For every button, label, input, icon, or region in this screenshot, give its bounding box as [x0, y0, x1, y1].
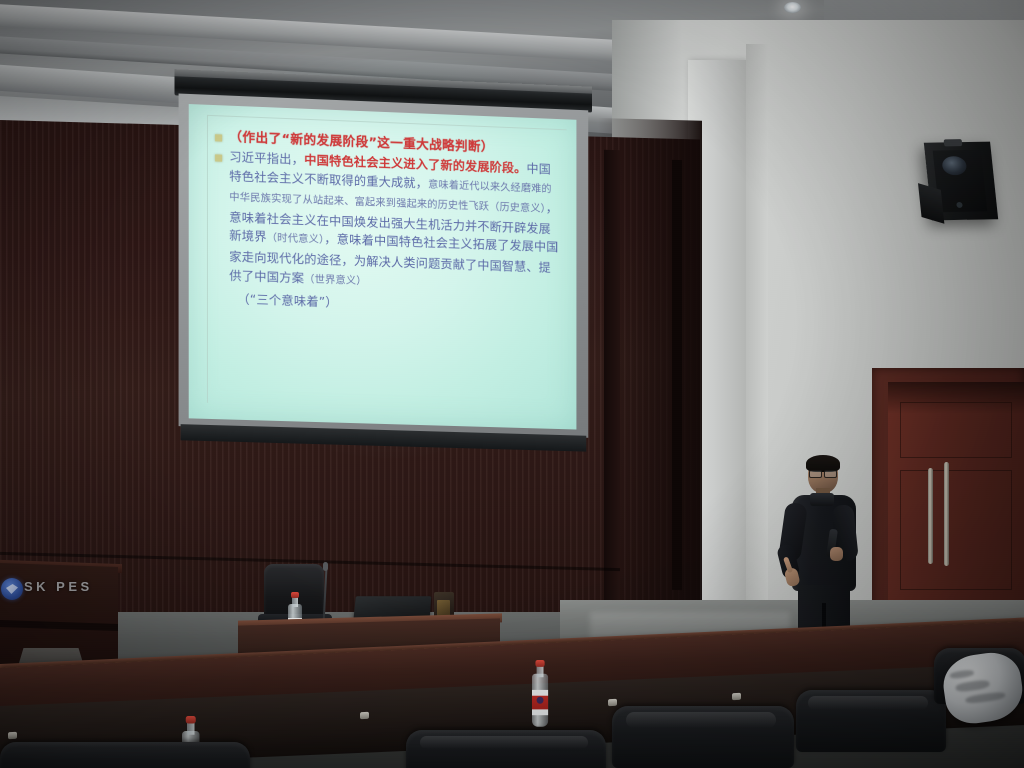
bottle-cap [291, 592, 299, 598]
institution-logo-icon [1, 578, 23, 600]
cloth-fold [950, 669, 975, 679]
chair-highlight [420, 736, 588, 749]
glasses-icon [809, 470, 837, 476]
presenter-collar [810, 493, 834, 506]
bottle-cap [186, 716, 196, 724]
body-paren-2: （时代意义） [267, 233, 325, 246]
loudspeaker-icon [924, 142, 998, 221]
body-paren-1: （历史意义） [489, 202, 546, 215]
bullet-square-icon [215, 134, 222, 141]
body-paren-3: （世界意义） [304, 274, 367, 287]
recessed-downlight-icon [784, 2, 801, 13]
bottle-neck [187, 722, 195, 735]
screen-surface: （作出了“新的发展阶段”这一重大战略判断） 习近平指出，中国特色社会主义进入了新… [189, 104, 577, 430]
desk-fixture-icon [8, 732, 17, 739]
desk-fixture-icon [608, 699, 617, 706]
desk-fixture-icon [732, 693, 741, 700]
bottle-label [532, 690, 548, 715]
slide-bullet-body: 习近平指出，中国特色社会主义进入了新的发展阶段。中国特色社会主义不断取得的重大成… [215, 147, 559, 298]
bottle-cap [535, 660, 544, 667]
slide-content: （作出了“新的发展阶段”这一重大战略判断） 习近平指出，中国特色社会主义进入了新… [215, 127, 559, 319]
bottle-neck [537, 666, 544, 678]
body-prefix: 习近平指出， [229, 150, 304, 167]
speaker-tweeter-icon [956, 202, 963, 208]
presenter-left-hand [830, 547, 843, 561]
door-handle-icon[interactable] [944, 462, 949, 566]
slide-body: 习近平指出，中国特色社会主义进入了新的发展阶段。中国特色社会主义不断取得的重大成… [229, 148, 558, 298]
podium-logo-text: SK PES [24, 579, 93, 594]
bottle-neck [292, 597, 298, 607]
lecture-hall-photo: （作出了“新的发展阶段”这一重大战略判断） 习近平指出，中国特色社会主义进入了新… [0, 0, 1024, 768]
bullet-square-icon [215, 154, 222, 161]
desk-fixture-icon [360, 712, 369, 719]
cloth-fold [965, 691, 1006, 704]
wood-panel-seam [672, 160, 682, 590]
door-handle-icon[interactable] [928, 468, 933, 564]
audience-chair [0, 742, 250, 768]
speaker-port [944, 139, 963, 146]
presenter-right-forearm [776, 543, 801, 580]
door-panel-line [900, 470, 1012, 590]
cloth-fold [955, 679, 990, 693]
door-panel-line [900, 402, 1012, 458]
microphone-head-icon [323, 562, 328, 571]
projection-screen: （作出了“新的发展阶段”这一重大战略判断） 习近平指出，中国特色社会主义进入了新… [175, 69, 593, 454]
wood-panel-gap [604, 150, 620, 610]
chair-highlight [808, 696, 928, 710]
chair-highlight [626, 712, 776, 728]
wall-pilaster-secondary [746, 44, 768, 659]
